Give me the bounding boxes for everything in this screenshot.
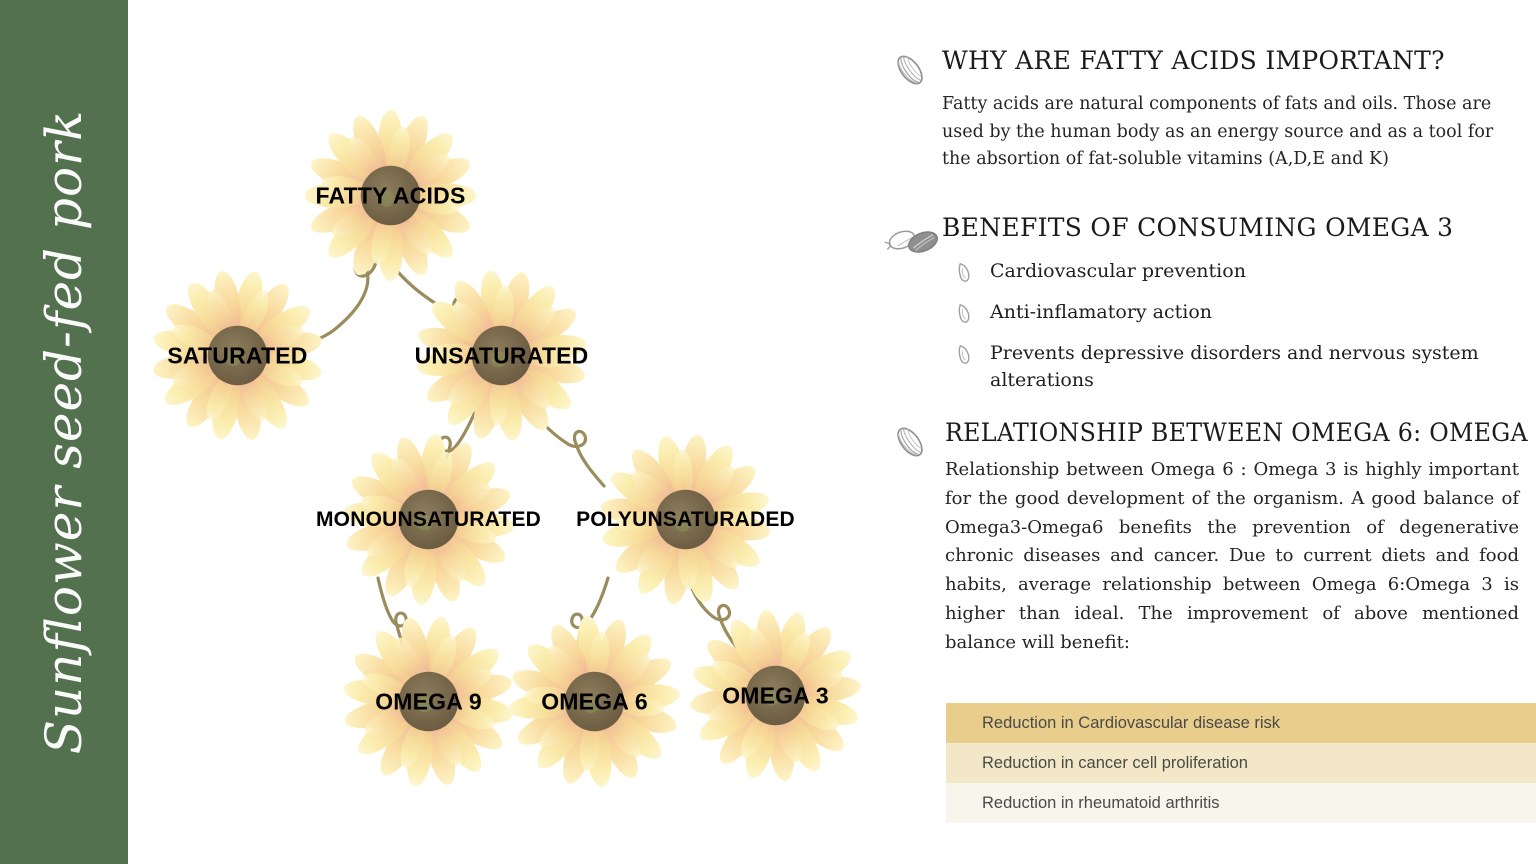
node-label-fatty-acids: FATTY ACIDS bbox=[315, 182, 465, 209]
node-label-omega-9: OMEGA 9 bbox=[375, 688, 482, 715]
benefit-row: Reduction in rheumatoid arthritis bbox=[946, 783, 1536, 823]
node-fatty-acids: FATTY ACIDS bbox=[303, 108, 478, 283]
list-item-label: Prevents depressive disorders and nervou… bbox=[990, 342, 1479, 391]
list-item-label: Anti-inflamatory action bbox=[990, 301, 1212, 323]
seed-bullet-icon bbox=[954, 260, 974, 292]
list-item: Anti-inflamatory action bbox=[942, 299, 1532, 326]
node-label-omega-6: OMEGA 6 bbox=[541, 688, 648, 715]
node-polyunsaturaded: POLYUNSATURADED bbox=[598, 432, 773, 607]
node-label-saturated: SATURATED bbox=[167, 342, 307, 369]
sunflower-seed-icon bbox=[888, 48, 932, 97]
section-body-relationship: Relationship between Omega 6 : Omega 3 i… bbox=[945, 456, 1519, 658]
infographic-canvas: Sunflower seed-fed pork bbox=[0, 0, 1536, 864]
seed-bullet-icon bbox=[954, 301, 974, 333]
node-unsaturated: UNSATURATED bbox=[414, 268, 589, 443]
seed-bullet-icon bbox=[954, 342, 974, 374]
node-monounsaturated: MONOUNSATURATED bbox=[341, 432, 516, 607]
list-item-label: Cardiovascular prevention bbox=[990, 260, 1246, 282]
node-label-omega-3: OMEGA 3 bbox=[722, 682, 829, 709]
sunflower-seed-icon bbox=[888, 420, 932, 469]
sidebar-script-title: Sunflower seed-fed pork bbox=[35, 110, 93, 754]
section-relationship: RELATIONSHIP BETWEEN OMEGA 6: OMEGA 3 Re… bbox=[888, 418, 1536, 658]
node-omega-6: OMEGA 6 bbox=[507, 614, 682, 789]
section-heading-why: WHY ARE FATTY ACIDS IMPORTANT? bbox=[942, 46, 1536, 75]
node-omega-3: OMEGA 3 bbox=[688, 608, 863, 783]
benefit-row: Reduction in Cardiovascular disease risk bbox=[946, 703, 1536, 743]
two-sunflower-seeds-icon bbox=[882, 219, 944, 266]
benefit-rows: Reduction in Cardiovascular disease risk… bbox=[946, 703, 1536, 823]
list-item: Prevents depressive disorders and nervou… bbox=[942, 340, 1532, 394]
node-omega-9: OMEGA 9 bbox=[341, 614, 516, 789]
node-saturated: SATURATED bbox=[150, 268, 325, 443]
section-heading-benefits: BENEFITS OF CONSUMING OMEGA 3 bbox=[942, 213, 1536, 242]
node-label-monounsaturated: MONOUNSATURATED bbox=[316, 508, 541, 532]
node-label-unsaturated: UNSATURATED bbox=[415, 342, 589, 369]
section-benefits-omega-3: BENEFITS OF CONSUMING OMEGA 3 Cardiovasc… bbox=[888, 213, 1536, 408]
node-label-polyunsaturaded: POLYUNSATURADED bbox=[576, 508, 795, 532]
content-column: WHY ARE FATTY ACIDS IMPORTANT? Fatty aci… bbox=[888, 0, 1536, 864]
fatty-acid-tree-diagram: FATTY ACIDS bbox=[128, 0, 888, 864]
list-item: Cardiovascular prevention bbox=[942, 258, 1532, 285]
section-heading-relationship: RELATIONSHIP BETWEEN OMEGA 6: OMEGA 3 bbox=[945, 418, 1506, 447]
sidebar-green-band: Sunflower seed-fed pork bbox=[0, 0, 128, 864]
section-body-why: Fatty acids are natural components of fa… bbox=[942, 91, 1520, 174]
section-why-fatty-acids: WHY ARE FATTY ACIDS IMPORTANT? Fatty aci… bbox=[888, 46, 1536, 174]
benefit-row: Reduction in cancer cell proliferation bbox=[946, 743, 1536, 783]
benefits-list: Cardiovascular prevention Anti-inflamato… bbox=[942, 258, 1532, 394]
